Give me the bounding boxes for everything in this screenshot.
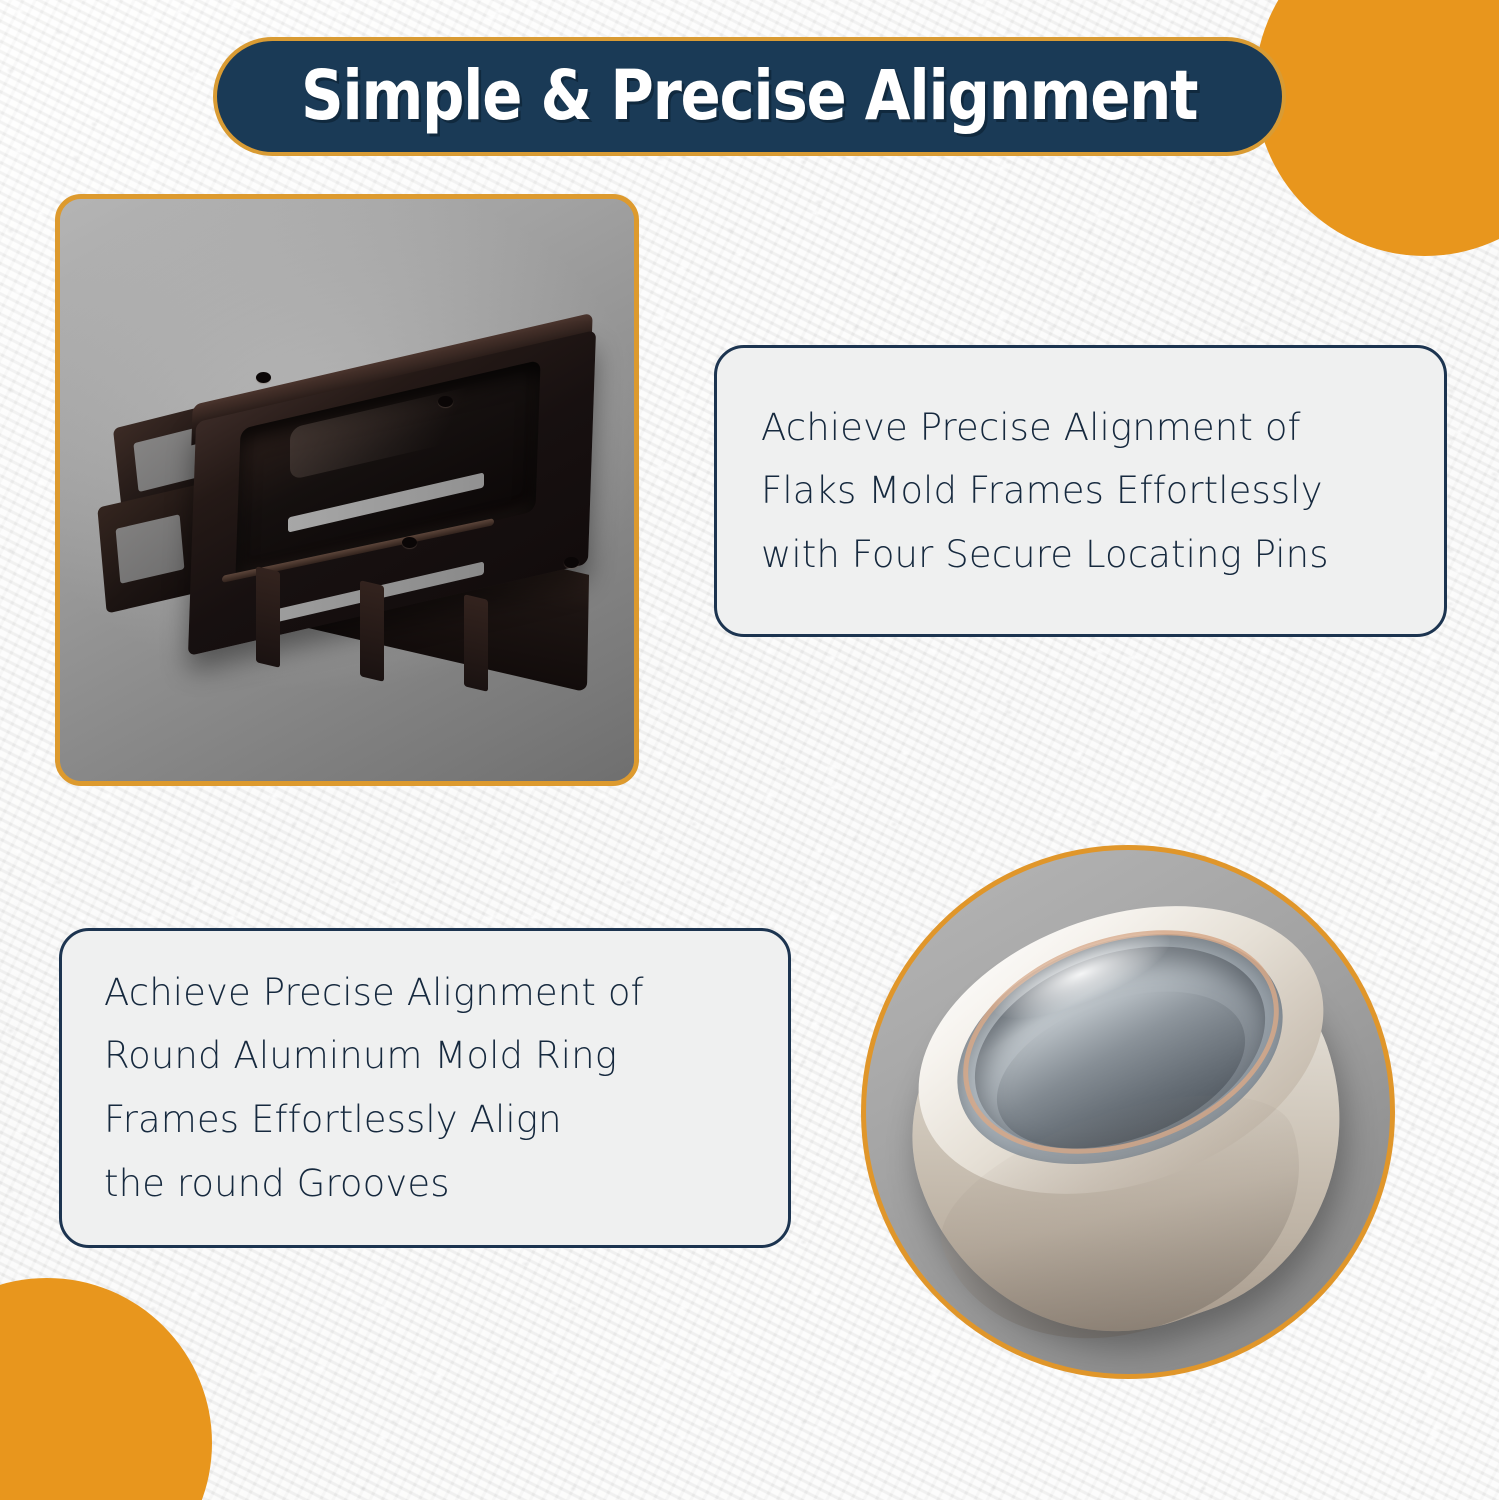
flask-callout-box: Achieve Precise Alignment of Flaks Mold …	[714, 345, 1447, 637]
ring-callout-line-4: the round Grooves	[104, 1152, 746, 1216]
flask-photo-backdrop	[60, 199, 634, 781]
flask-pin-hole-1	[256, 372, 271, 383]
aluminum-mold-ring-photo	[861, 845, 1395, 1379]
flask-callout-line-3: with Four Secure Locating Pins	[761, 523, 1400, 587]
flask-callout-line-2: Flaks Mold Frames Effortlessly	[761, 459, 1400, 523]
ring-callout-line-2: Round Aluminum Mold Ring	[104, 1024, 746, 1088]
flask-mold-frame-photo	[55, 194, 639, 786]
flask-rib-right	[464, 594, 488, 692]
flask-pin-hole-4	[564, 557, 579, 568]
ring-callout-line-3: Frames Effortlessly Align	[104, 1088, 746, 1152]
flask-rib-left	[256, 566, 280, 668]
flask-rib-center	[360, 580, 384, 682]
page-title: Simple & Precise Alignment	[301, 62, 1197, 131]
ring-callout-line-1: Achieve Precise Alignment of	[104, 961, 746, 1025]
flask-pin-hole-3	[402, 537, 417, 548]
ring-callout-box: Achieve Precise Alignment of Round Alumi…	[59, 928, 791, 1248]
flask-callout-line-1: Achieve Precise Alignment of	[761, 396, 1400, 460]
flask-pin-hole-2	[438, 396, 453, 407]
title-banner: Simple & Precise Alignment	[213, 37, 1286, 156]
